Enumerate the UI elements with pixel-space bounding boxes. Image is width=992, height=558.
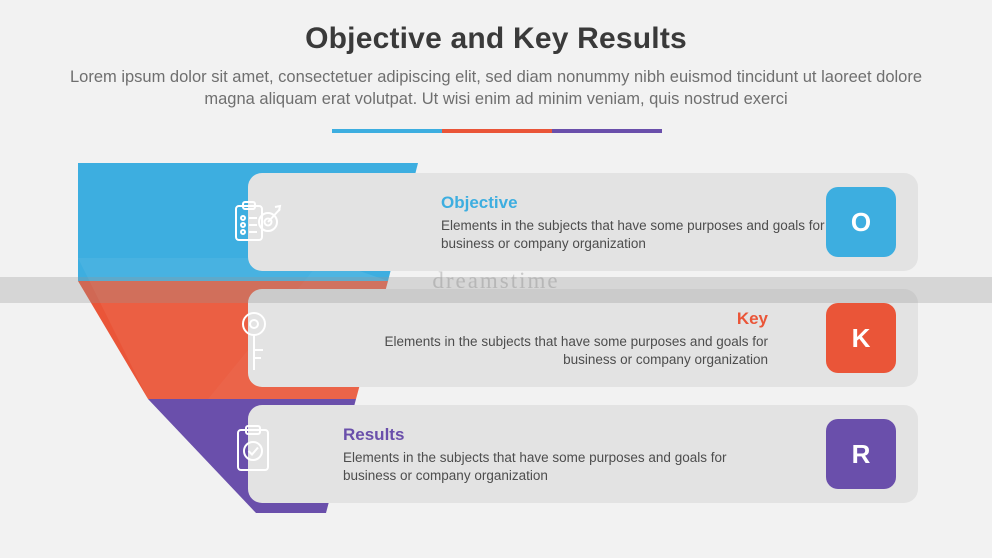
row-key-title: Key bbox=[368, 309, 768, 329]
row-results[interactable]: Results Elements in the subjects that ha… bbox=[248, 405, 918, 503]
row-results-title: Results bbox=[343, 425, 743, 445]
slide-canvas: Objective and Key Results Lorem ipsum do… bbox=[0, 0, 992, 558]
row-results-desc: Elements in the subjects that have some … bbox=[343, 449, 743, 485]
row-key-text: Key Elements in the subjects that have s… bbox=[368, 309, 768, 369]
key-icon bbox=[232, 310, 284, 362]
accent-rule bbox=[332, 129, 662, 133]
clipboard-target-icon bbox=[228, 198, 280, 250]
row-objective-title: Objective bbox=[441, 193, 841, 213]
clipboard-check-icon bbox=[231, 424, 283, 476]
watermark-text: dreamstime bbox=[0, 268, 992, 294]
row-objective-badge: O bbox=[826, 187, 896, 257]
row-objective[interactable]: Objective Elements in the subjects that … bbox=[248, 173, 918, 271]
row-results-badge: R bbox=[826, 419, 896, 489]
row-key-badge: K bbox=[826, 303, 896, 373]
row-results-text: Results Elements in the subjects that ha… bbox=[343, 425, 743, 485]
row-objective-desc: Elements in the subjects that have some … bbox=[441, 217, 841, 253]
row-key-desc: Elements in the subjects that have some … bbox=[368, 333, 768, 369]
page-subtitle: Lorem ipsum dolor sit amet, consectetuer… bbox=[60, 66, 932, 110]
row-objective-text: Objective Elements in the subjects that … bbox=[441, 193, 841, 253]
page-title: Objective and Key Results bbox=[0, 22, 992, 56]
row-key[interactable]: Key Elements in the subjects that have s… bbox=[248, 289, 918, 387]
